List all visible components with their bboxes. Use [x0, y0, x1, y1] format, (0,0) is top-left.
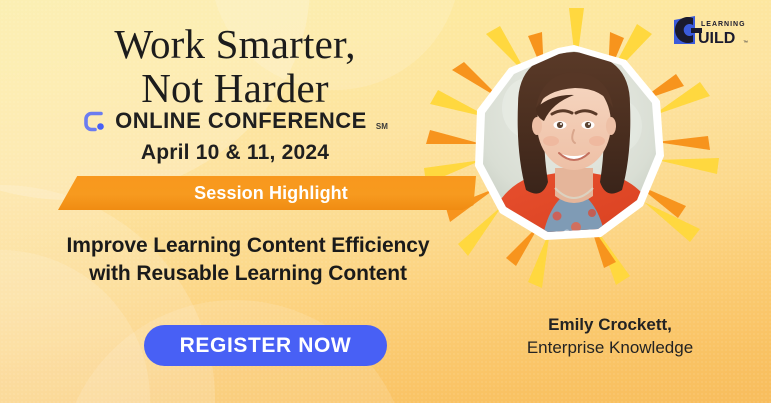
- session-highlight-banner: Session Highlight: [58, 176, 476, 210]
- logo-trademark: ™: [743, 40, 748, 46]
- register-now-button[interactable]: REGISTER NOW: [144, 325, 387, 366]
- service-mark: SM: [376, 122, 388, 134]
- conference-bracket-icon: [82, 109, 107, 134]
- logo-learning-text: LEARNING: [701, 21, 746, 28]
- online-conference-lockup: ONLINE CONFERENCE SM: [0, 108, 470, 134]
- learning-guild-logo: LEARNING UILD ™: [671, 13, 749, 47]
- speaker-caption: Emily Crockett, Enterprise Knowledge: [470, 313, 750, 359]
- speaker-organization: Enterprise Knowledge: [470, 336, 750, 359]
- headline: Work Smarter, Not Harder: [0, 22, 470, 110]
- session-title: Improve Learning Content Efficiency with…: [38, 232, 458, 288]
- background-arc: [0, 185, 215, 403]
- logo-guild-text: UILD: [698, 30, 735, 47]
- session-title-line-1: Improve Learning Content Efficiency: [38, 232, 458, 260]
- headline-line-1: Work Smarter,: [0, 22, 470, 66]
- speaker-photo: [469, 43, 669, 243]
- speaker-name: Emily Crockett,: [470, 313, 750, 336]
- session-highlight-label: Session Highlight: [186, 183, 348, 204]
- online-conference-text: ONLINE CONFERENCE: [115, 108, 367, 134]
- conference-dates: April 10 & 11, 2024: [0, 141, 470, 165]
- headline-line-2: Not Harder: [0, 66, 470, 110]
- session-title-line-2: with Reusable Learning Content: [38, 260, 458, 288]
- promo-banner: LEARNING UILD ™ Work Smarter, Not Harder…: [0, 0, 771, 403]
